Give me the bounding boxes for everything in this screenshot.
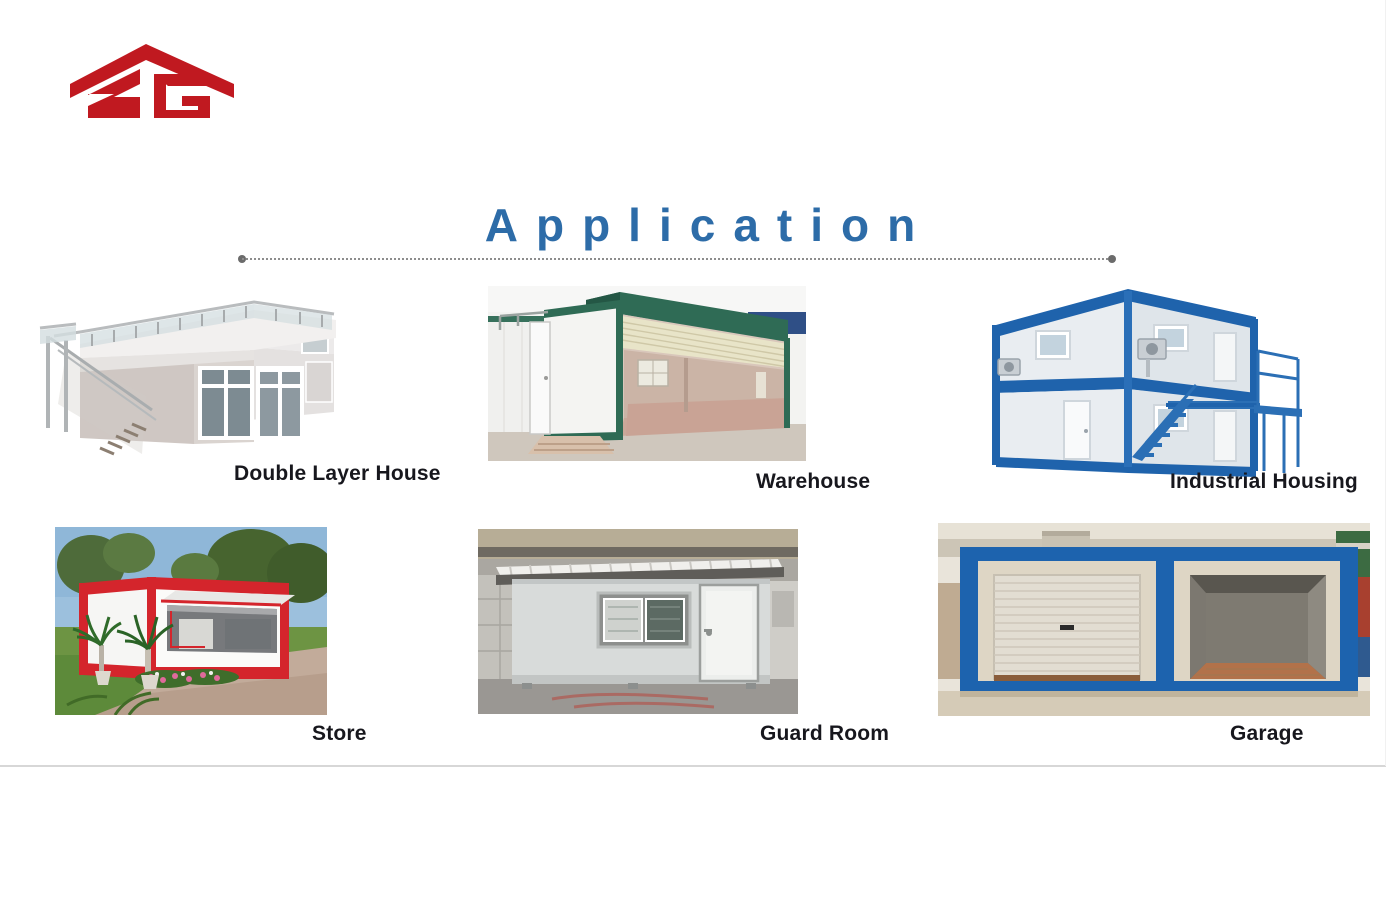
- store-photo[interactable]: [55, 527, 327, 715]
- zg-logo: [58, 40, 238, 132]
- caption-guard-room: Guard Room: [760, 722, 889, 746]
- page-title-block: Application: [0, 196, 1400, 254]
- page-right-edge: [1385, 0, 1386, 766]
- warehouse-photo[interactable]: [488, 286, 806, 461]
- page-title: Application: [467, 196, 933, 254]
- footer-rule: [0, 765, 1386, 767]
- guard-room-photo[interactable]: [478, 529, 798, 714]
- slide-page: Application: [0, 0, 1400, 900]
- caption-store: Store: [312, 722, 367, 746]
- divider-cap-right: [1108, 255, 1116, 263]
- garage-photo[interactable]: [938, 523, 1370, 716]
- double-layer-house-photo[interactable]: [14, 292, 366, 460]
- zg-logo-icon: [58, 40, 238, 132]
- title-divider: [238, 255, 1116, 263]
- caption-garage: Garage: [1230, 722, 1304, 746]
- caption-warehouse: Warehouse: [756, 470, 870, 494]
- industrial-housing-photo[interactable]: [968, 281, 1380, 481]
- caption-industrial-housing: Industrial Housing: [1170, 470, 1358, 494]
- caption-double-layer-house: Double Layer House: [234, 462, 441, 486]
- divider-dotted-line: [242, 258, 1112, 260]
